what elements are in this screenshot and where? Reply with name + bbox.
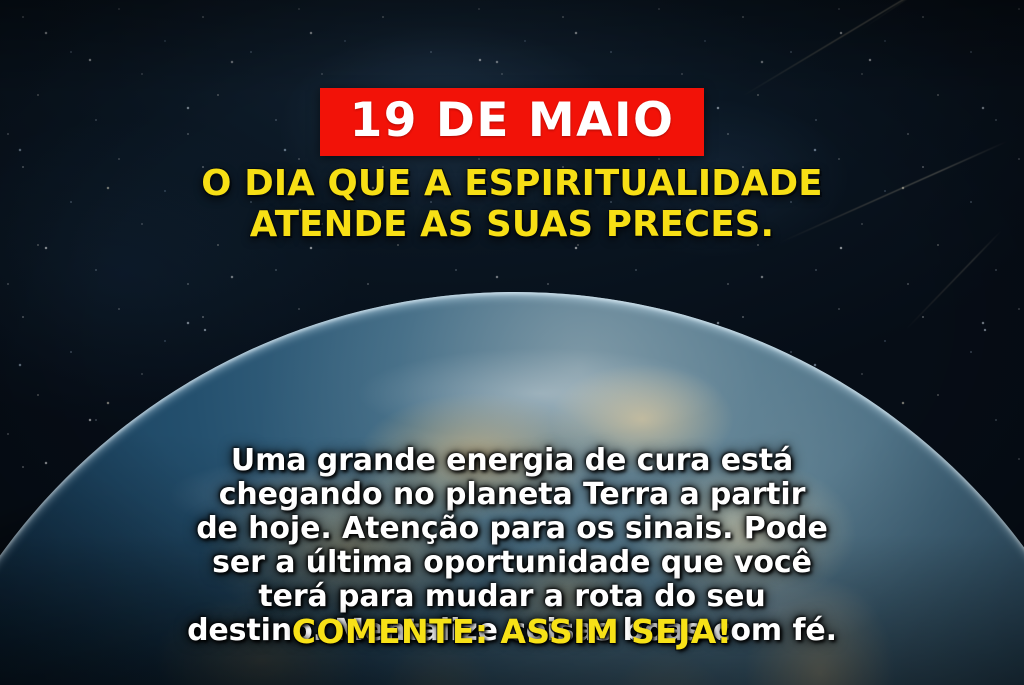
body-line-5: terá para mudar a rota do seu <box>34 580 990 614</box>
headline-line-2: ATENDE AS SUAS PRECES. <box>28 204 996 245</box>
date-banner-label: 19 DE MAIO <box>350 97 675 144</box>
date-banner-row: 19 DE MAIO <box>0 88 1024 156</box>
body-line-2: chegando no planeta Terra a partir <box>34 478 990 512</box>
headline-line-1: O DIA QUE A ESPIRITUALIDADE <box>28 163 996 204</box>
headline: O DIA QUE A ESPIRITUALIDADE ATENDE AS SU… <box>28 163 996 245</box>
body-line-1: Uma grande energia de cura está <box>34 444 990 478</box>
date-banner: 19 DE MAIO <box>320 88 705 156</box>
body-line-4: ser a última oportunidade que você <box>34 546 990 580</box>
poster-image: 19 DE MAIO O DIA QUE A ESPIRITUALIDADE A… <box>0 0 1024 685</box>
poster-content: 19 DE MAIO O DIA QUE A ESPIRITUALIDADE A… <box>0 0 1024 685</box>
call-to-action: COMENTE: ASSIM SEJA! <box>0 612 1024 651</box>
body-line-3: de hoje. Atenção para os sinais. Pode <box>34 512 990 546</box>
call-to-action-label: COMENTE: ASSIM SEJA! <box>292 612 732 651</box>
